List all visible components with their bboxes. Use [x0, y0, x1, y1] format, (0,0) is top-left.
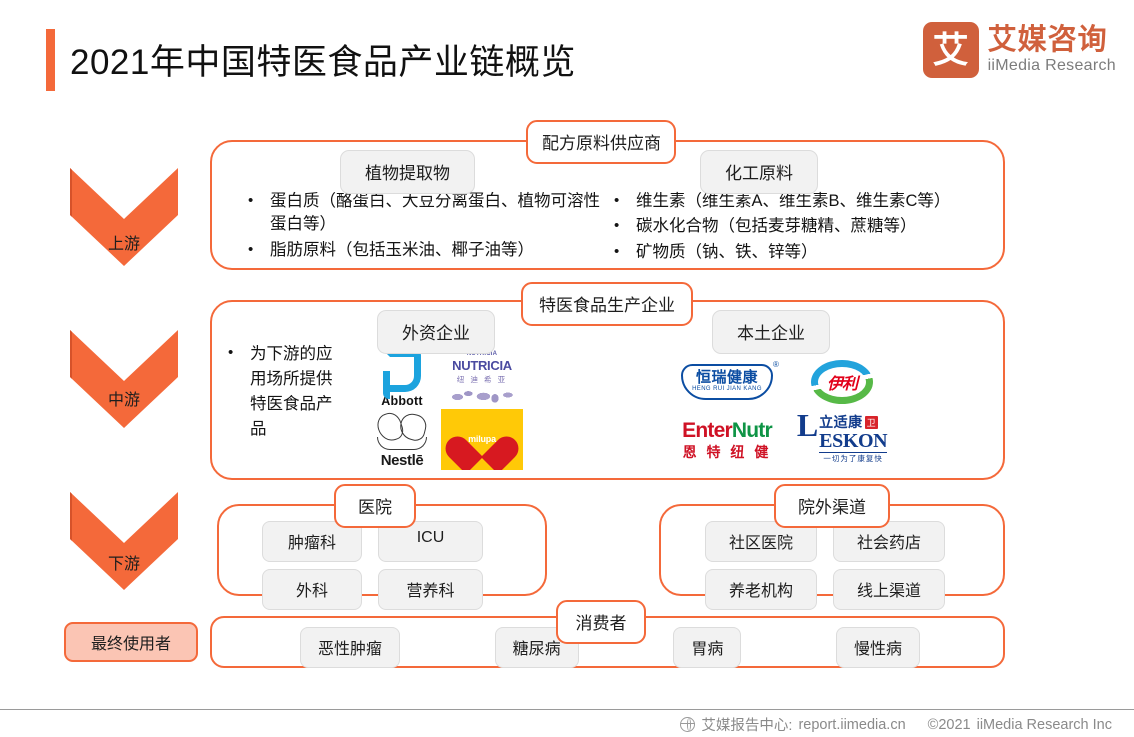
midstream-local-subhead[interactable]: 本土企业	[712, 310, 830, 354]
chevron-label-midstream: 中游	[70, 386, 178, 410]
upstream-left-bullets: • 蛋白质（酪蛋白、大豆分离蛋白、植物可溶性蛋白等） • 脂肪原料（包括玉米油、…	[248, 190, 603, 264]
nutricia-logo-icon: NUTRICIA NUTRICIA 纽 迪 希 亚	[441, 348, 523, 409]
midstream-badge[interactable]: 特医食品生产企业	[521, 282, 693, 326]
yili-oval-icon: 伊利	[811, 360, 873, 404]
upstream-left-subhead[interactable]: 植物提取物	[340, 150, 475, 194]
leskon-slogan: 一切为了康复快	[819, 452, 887, 464]
abbott-symbol-icon	[383, 350, 421, 392]
bullet-dot-icon: •	[614, 215, 636, 238]
nutricia-cn-text: 纽 迪 希 亚	[457, 374, 507, 385]
globe-icon	[680, 717, 695, 732]
bullet-item: • 碳水化合物（包括麦芽糖精、蔗糖等）	[614, 215, 994, 238]
leskon-badge-icon: 卫	[865, 416, 878, 429]
leskon-right-block: 立适康 卫 ESKON 一切为了康复快	[819, 412, 887, 464]
nutricia-wordmark: NUTRICIA	[452, 358, 512, 373]
offsite-badge[interactable]: 院外渠道	[774, 484, 890, 528]
bullet-dot-icon: •	[614, 190, 636, 213]
midstream-bullets: • 为下游的应用场所提供特医食品产品	[228, 342, 348, 444]
birds-nest-icon	[373, 411, 431, 451]
brand-logo: 艾 艾媒咨询 iiMedia Research	[923, 22, 1116, 78]
enternutr-logo-icon: EnterNutr 恩 特 纽 健	[668, 412, 786, 470]
final-user-label: 最终使用者	[64, 622, 198, 662]
hengrui-logo-icon: ® 恒瑞健康 HENG RUI JIAN KANG	[668, 352, 786, 412]
milupa-tile: milupa	[441, 409, 523, 470]
heart-icon: milupa	[459, 419, 505, 461]
page-title: 2021年中国特医食品产业链概览	[70, 34, 576, 85]
abbott-logo-icon: Abbott	[363, 348, 441, 409]
local-logo-grid: ® 恒瑞健康 HENG RUI JIAN KANG 伊利 EnterNutr 恩…	[668, 352, 898, 470]
title-accent-bar	[46, 29, 55, 91]
bullet-label: 维生素（维生素A、维生素B、维生素C等）	[636, 190, 994, 213]
chevron-label-upstream: 上游	[70, 230, 178, 254]
nest-bowl-icon	[377, 437, 427, 450]
bullet-dot-icon: •	[228, 342, 250, 442]
enternutr-word-a: Enter	[682, 419, 732, 442]
hengrui-wordmark-en: HENG RUI JIAN KANG	[692, 386, 762, 392]
milupa-wordmark: milupa	[459, 434, 505, 444]
registered-mark-icon: ®	[773, 360, 779, 369]
hospital-badge[interactable]: 医院	[334, 484, 416, 528]
bullet-dot-icon: •	[614, 241, 636, 264]
nestle-logo-icon: Nestlē	[363, 409, 441, 470]
footer-copyright: ©2021	[928, 717, 971, 733]
upstream-badge[interactable]: 配方原料供应商	[526, 120, 676, 164]
chevron-midstream	[70, 330, 178, 428]
world-map-icon	[446, 386, 518, 406]
yili-wordmark: 伊利	[818, 367, 866, 397]
upstream-right-bullets: • 维生素（维生素A、维生素B、维生素C等） • 碳水化合物（包括麦芽糖精、蔗糖…	[614, 190, 994, 266]
bullet-item: • 矿物质（钠、铁、锌等）	[614, 241, 994, 264]
footer-url[interactable]: report.iimedia.cn	[798, 717, 905, 733]
nestle-wordmark: Nestlē	[381, 452, 424, 469]
chevron-downstream	[70, 492, 178, 590]
consumer-chip[interactable]: 慢性病	[836, 627, 920, 668]
hengrui-wordmark-cn: 恒瑞健康	[696, 370, 758, 387]
consumer-chip[interactable]: 胃病	[673, 627, 741, 668]
foreign-logo-grid: Abbott NUTRICIA NUTRICIA 纽 迪 希 亚 Nestlē …	[363, 348, 523, 470]
bullet-label: 蛋白质（酪蛋白、大豆分离蛋白、植物可溶性蛋白等）	[270, 190, 603, 237]
leskon-logo-icon: L 立适康 卫 ESKON 一切为了康复快	[786, 412, 898, 470]
page-header: 2021年中国特医食品产业链概览 艾 艾媒咨询 iiMedia Research	[0, 0, 1134, 100]
hospital-chip[interactable]: 营养科	[378, 569, 483, 610]
leskon-initial: L	[797, 412, 818, 464]
enternutr-word-b: Nutr	[732, 419, 772, 442]
bullet-label: 为下游的应用场所提供特医食品产品	[250, 342, 348, 442]
hospital-chip[interactable]: 外科	[262, 569, 362, 610]
leskon-wordmark-cn: 立适康	[819, 412, 863, 432]
brand-name-en: iiMedia Research	[988, 57, 1116, 75]
brand-text: 艾媒咨询 iiMedia Research	[988, 25, 1116, 75]
leskon-wordmark-en: ESKON	[819, 432, 887, 451]
hengrui-shield-icon: ® 恒瑞健康 HENG RUI JIAN KANG	[681, 364, 773, 401]
consumer-chip[interactable]: 恶性肿瘤	[300, 627, 400, 668]
footer-divider	[0, 709, 1134, 710]
yili-logo-icon: 伊利	[786, 352, 898, 412]
bullet-label: 矿物质（钠、铁、锌等）	[636, 241, 994, 264]
bullet-label: 碳水化合物（包括麦芽糖精、蔗糖等）	[636, 215, 994, 238]
offsite-chip[interactable]: 养老机构	[705, 569, 817, 610]
bullet-item: • 脂肪原料（包括玉米油、椰子油等）	[248, 239, 603, 262]
enternutr-wordmark: EnterNutr	[682, 420, 772, 442]
leskon-lockup: L 立适康 卫 ESKON 一切为了康复快	[797, 412, 887, 464]
bullet-label: 脂肪原料（包括玉米油、椰子油等）	[270, 239, 603, 262]
offsite-chip-grid: 社区医院 社会药店 养老机构 线上渠道	[705, 521, 965, 610]
iimedia-logo-icon: 艾	[923, 22, 979, 78]
footer: 艾媒报告中心: report.iimedia.cn ©2021 iiMedia …	[680, 714, 1112, 735]
chevron-label-downstream: 下游	[70, 550, 178, 574]
bullet-dot-icon: •	[248, 239, 270, 262]
upstream-right-subhead[interactable]: 化工原料	[700, 150, 818, 194]
hospital-chip-grid: 肿瘤科 ICU 外科 营养科	[262, 521, 507, 610]
consumer-badge[interactable]: 消费者	[556, 600, 646, 644]
enternutr-wordmark-cn: 恩 特 纽 健	[683, 442, 772, 462]
offsite-chip[interactable]: 线上渠道	[833, 569, 945, 610]
footer-report-center-label: 艾媒报告中心:	[701, 714, 792, 735]
midstream-foreign-subhead[interactable]: 外资企业	[377, 310, 495, 354]
brand-name-cn: 艾媒咨询	[988, 25, 1116, 55]
bullet-dot-icon: •	[248, 190, 270, 237]
footer-company: iiMedia Research Inc	[977, 717, 1112, 733]
milupa-logo-icon: milupa	[441, 409, 523, 470]
leskon-top-row: 立适康 卫	[819, 412, 887, 432]
bullet-item: • 为下游的应用场所提供特医食品产品	[228, 342, 348, 442]
bullet-item: • 蛋白质（酪蛋白、大豆分离蛋白、植物可溶性蛋白等）	[248, 190, 603, 237]
